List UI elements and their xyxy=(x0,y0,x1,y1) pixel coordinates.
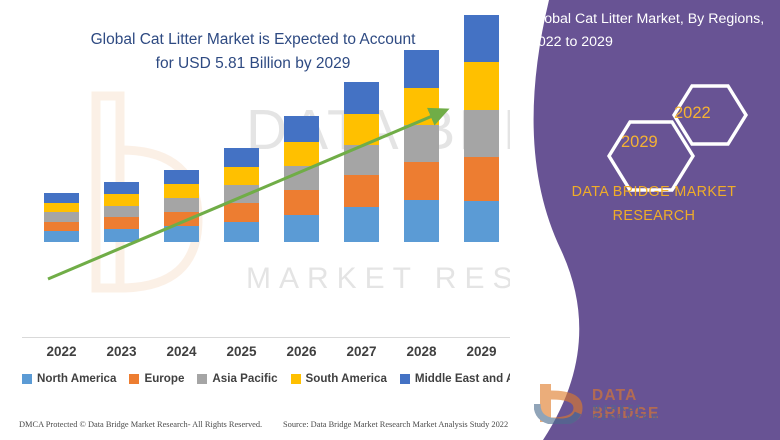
bar-segment-2024-s0 xyxy=(164,226,199,242)
bar-segment-2028-s2 xyxy=(404,125,439,162)
x-axis-labels: 20222023202420252026202720282029 xyxy=(0,344,530,366)
legend-label: North America xyxy=(37,372,116,385)
legend-swatch-icon xyxy=(129,374,139,384)
bar-segment-2022-s1 xyxy=(44,222,79,232)
footer-source-text: Source: Data Bridge Market Research Mark… xyxy=(283,420,508,429)
x-axis-label-2023: 2023 xyxy=(97,344,147,359)
hex-label-2022: 2022 xyxy=(674,104,711,123)
panel-title-line2: 2022 to 2029 xyxy=(530,34,613,50)
plot-area xyxy=(0,0,530,345)
bar-segment-2029-s3 xyxy=(464,62,499,110)
bar-segment-2028-s3 xyxy=(404,88,439,125)
legend-swatch-icon xyxy=(400,374,410,384)
side-panel: Global Cat Litter Market, By Regions, 20… xyxy=(510,0,780,440)
panel-title-line1: Global Cat Litter Market, By Regions, xyxy=(530,11,764,27)
legend-label: Europe xyxy=(144,372,184,385)
bar-segment-2029-s1 xyxy=(464,157,499,201)
legend-label: South America xyxy=(306,372,387,385)
bar-segment-2029-s4 xyxy=(464,15,499,62)
bar-segment-2024-s2 xyxy=(164,198,199,212)
bar-segment-2022-s4 xyxy=(44,193,79,203)
bar-segment-2023-s2 xyxy=(104,206,139,217)
footer-logo-subtitle: MARKET RESEARCH xyxy=(593,404,704,422)
hexagon-pair-icon xyxy=(592,82,762,192)
legend-item-north-america[interactable]: North America xyxy=(22,372,116,385)
bar-segment-2028-s0 xyxy=(404,200,439,242)
bar-segment-2025-s0 xyxy=(224,222,259,242)
bar-2026 xyxy=(284,116,319,242)
bar-segment-2024-s4 xyxy=(164,170,199,184)
bar-2023 xyxy=(104,182,139,242)
bar-segment-2024-s1 xyxy=(164,212,199,226)
bar-segment-2022-s3 xyxy=(44,203,79,212)
bar-segment-2022-s2 xyxy=(44,212,79,221)
bar-segment-2029-s0 xyxy=(464,201,499,242)
panel-brand: DATA BRIDGE MARKET RESEARCH xyxy=(536,180,772,228)
bar-2029 xyxy=(464,15,499,242)
panel-brand-line2: RESEARCH xyxy=(613,208,696,224)
bar-segment-2026-s0 xyxy=(284,215,319,242)
bar-segment-2027-s1 xyxy=(344,175,379,207)
bar-segment-2023-s4 xyxy=(104,182,139,194)
x-axis-label-2026: 2026 xyxy=(277,344,327,359)
bar-segment-2023-s1 xyxy=(104,217,139,229)
chart-legend: North AmericaEuropeAsia PacificSouth Ame… xyxy=(22,372,522,385)
bar-segment-2025-s2 xyxy=(224,185,259,203)
bar-segment-2023-s3 xyxy=(104,194,139,206)
bar-segment-2027-s4 xyxy=(344,82,379,114)
brand-b-logo-icon xyxy=(534,382,586,424)
bar-segment-2028-s1 xyxy=(404,162,439,200)
bar-segment-2026-s1 xyxy=(284,190,319,215)
x-axis-label-2022: 2022 xyxy=(37,344,87,359)
x-axis-label-2027: 2027 xyxy=(337,344,387,359)
bar-2022 xyxy=(44,193,79,242)
hex-label-2029: 2029 xyxy=(621,133,658,152)
bar-segment-2028-s4 xyxy=(404,50,439,88)
bar-segment-2027-s3 xyxy=(344,114,379,145)
infographic-canvas: DATA BRIDGE MARKET RESEARCH Global Cat L… xyxy=(0,0,780,440)
legend-label: Asia Pacific xyxy=(212,372,277,385)
legend-item-europe[interactable]: Europe xyxy=(129,372,184,385)
bar-segment-2026-s3 xyxy=(284,142,319,166)
x-axis-label-2029: 2029 xyxy=(457,344,507,359)
bar-segment-2025-s3 xyxy=(224,167,259,185)
bar-2028 xyxy=(404,50,439,242)
bar-segment-2027-s0 xyxy=(344,207,379,242)
panel-title: Global Cat Litter Market, By Regions, 20… xyxy=(530,8,778,54)
footer: DMCA Protected © Data Bridge Market Rese… xyxy=(0,414,540,440)
footer-logo: DATA BRIDGE MARKET RESEARCH xyxy=(534,382,704,424)
legend-swatch-icon xyxy=(197,374,207,384)
bar-2024 xyxy=(164,170,199,242)
legend-swatch-icon xyxy=(291,374,301,384)
legend-swatch-icon xyxy=(22,374,32,384)
legend-item-south-america[interactable]: South America xyxy=(291,372,387,385)
x-axis-label-2028: 2028 xyxy=(397,344,447,359)
bar-segment-2024-s3 xyxy=(164,184,199,198)
bar-segment-2025-s4 xyxy=(224,148,259,167)
legend-item-asia-pacific[interactable]: Asia Pacific xyxy=(197,372,277,385)
footer-dmca-text: DMCA Protected © Data Bridge Market Rese… xyxy=(19,420,262,429)
panel-brand-line1: DATA BRIDGE MARKET xyxy=(572,184,737,200)
stacked-bars xyxy=(0,0,530,345)
x-axis-label-2024: 2024 xyxy=(157,344,207,359)
bar-segment-2026-s4 xyxy=(284,116,319,141)
x-axis-label-2025: 2025 xyxy=(217,344,267,359)
bar-segment-2027-s2 xyxy=(344,145,379,175)
bar-segment-2023-s0 xyxy=(104,229,139,242)
bar-segment-2029-s2 xyxy=(464,110,499,157)
bar-segment-2022-s0 xyxy=(44,231,79,242)
bar-2025 xyxy=(224,148,259,242)
bar-segment-2026-s2 xyxy=(284,166,319,190)
bar-2027 xyxy=(344,82,379,242)
bar-segment-2025-s1 xyxy=(224,203,259,222)
